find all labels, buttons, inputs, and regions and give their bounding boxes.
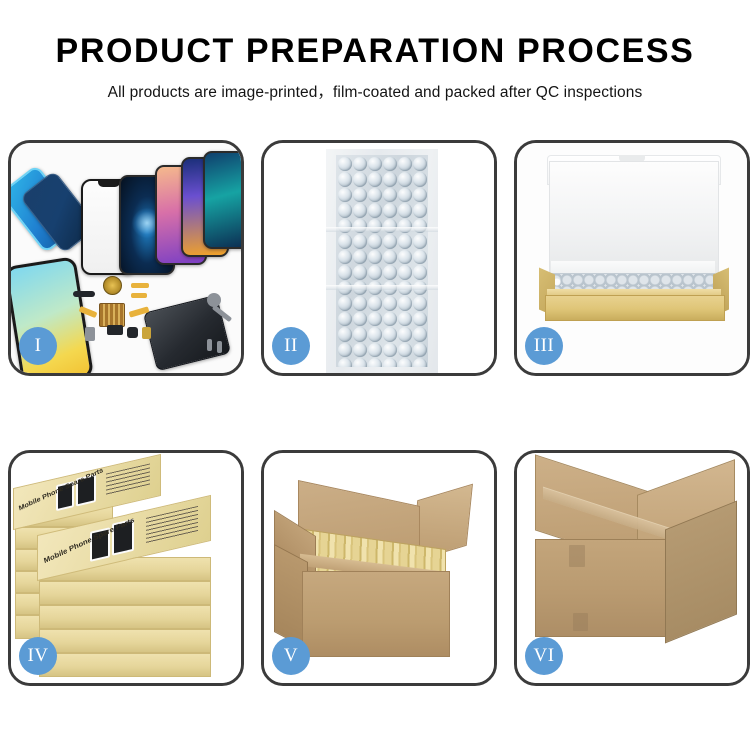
bubble-cell: [383, 157, 397, 172]
bubble-cell: [353, 203, 367, 218]
bubble-cell: [368, 296, 382, 311]
step-panel-6[interactable]: VI: [514, 450, 750, 686]
part-screw-b: [217, 341, 222, 353]
bubble-cell: [368, 157, 382, 172]
bubble-cell: [338, 203, 352, 218]
bubble-cell: [338, 250, 352, 265]
carton-flap-tab-lower: [573, 613, 588, 631]
part-flex-cable-b: [131, 293, 147, 298]
step-panel-3[interactable]: III: [514, 140, 750, 376]
bubble-cell: [413, 296, 427, 311]
bubble-cell: [353, 296, 367, 311]
page-title: PRODUCT PREPARATION PROCESS: [0, 34, 750, 70]
bubble-cell: [398, 203, 412, 218]
lid-spec-lines-a: [106, 463, 150, 495]
bubble-cell: [368, 343, 382, 358]
bubble-cell: [338, 234, 352, 249]
bubble-cell: [383, 296, 397, 311]
bubble-cell: [413, 358, 427, 367]
bubble-cell: [398, 234, 412, 249]
bubble-cell: [413, 312, 427, 327]
bubble-cell: [398, 188, 412, 203]
part-flex-cable-a: [131, 283, 149, 288]
carton-flap-tab-upper: [569, 545, 585, 567]
bubble-cell: [383, 203, 397, 218]
bubble-cell: [398, 172, 412, 187]
bubble-cell: [383, 312, 397, 327]
bubble-cell: [383, 188, 397, 203]
bubble-cell: [338, 172, 352, 187]
stacked-box-front-4: [39, 629, 211, 653]
bubble-cell: [398, 265, 412, 280]
phone-display-teal: [203, 151, 241, 249]
bubble-cell: [383, 234, 397, 249]
bubble-cell: [353, 265, 367, 280]
bubble-cell: [383, 265, 397, 280]
bubble-cell: [383, 172, 397, 187]
page-header: PRODUCT PREPARATION PROCESS All products…: [0, 0, 750, 102]
bubble-cell: [338, 188, 352, 203]
step-badge-4: IV: [19, 637, 57, 675]
bubble-cell: [368, 265, 382, 280]
bubble-cell: [338, 327, 352, 342]
stacked-box-front-3: [39, 605, 211, 629]
bubble-cell: [353, 250, 367, 265]
box-back-wall: [549, 161, 719, 275]
bubble-cell: [398, 327, 412, 342]
bubble-cell: [383, 327, 397, 342]
bubble-cell: [338, 296, 352, 311]
bubble-cell: [353, 343, 367, 358]
step-badge-6: VI: [525, 637, 563, 675]
bubble-grid: [336, 155, 428, 367]
bubble-cell: [338, 358, 352, 367]
bubble-cell: [368, 327, 382, 342]
carton-front-face: [302, 571, 450, 657]
part-chip-array: [99, 303, 125, 327]
part-taptic-engine: [127, 327, 138, 338]
bubble-cell: [398, 312, 412, 327]
bubble-cell: [353, 172, 367, 187]
bubble-cell: [383, 358, 397, 367]
bubble-cell: [353, 358, 367, 367]
bubble-cell: [353, 312, 367, 327]
bubble-wrap-pouch: [326, 149, 438, 373]
bubble-cell: [413, 234, 427, 249]
bubble-cell: [413, 343, 427, 358]
bubble-cell: [398, 296, 412, 311]
box-front-face: [545, 295, 725, 321]
bubble-cell: [413, 265, 427, 280]
step-panel-5[interactable]: V: [261, 450, 497, 686]
step-badge-1: I: [19, 327, 57, 365]
bubble-cell: [398, 343, 412, 358]
step-badge-2: II: [272, 327, 310, 365]
bubble-cell: [398, 358, 412, 367]
part-screw-a: [207, 339, 212, 351]
bubble-cell: [338, 343, 352, 358]
step-panel-1[interactable]: I: [8, 140, 244, 376]
bubble-cell: [353, 234, 367, 249]
bubble-cell: [368, 203, 382, 218]
step-badge-3: III: [525, 327, 563, 365]
bubble-cell: [413, 250, 427, 265]
part-vibration-motor: [103, 276, 122, 295]
bubble-cell: [413, 172, 427, 187]
bubble-cell: [413, 203, 427, 218]
part-camera-module: [107, 325, 123, 335]
stacked-box-front-5: [39, 653, 211, 677]
bubble-cell: [368, 250, 382, 265]
bubble-cell: [368, 172, 382, 187]
process-steps-grid: I II III: [8, 140, 742, 686]
bubble-cell: [353, 157, 367, 172]
part-sim-tray: [142, 327, 151, 339]
part-speaker: [73, 291, 95, 297]
bubble-cell: [368, 188, 382, 203]
bubble-cell: [353, 327, 367, 342]
page-subtitle: All products are image-printed，film-coat…: [0, 80, 750, 102]
bubble-cell: [368, 358, 382, 367]
bubble-cell: [338, 312, 352, 327]
bubble-cell: [338, 265, 352, 280]
bubble-cell: [353, 188, 367, 203]
bubble-cell: [383, 343, 397, 358]
step-badge-5: V: [272, 637, 310, 675]
part-battery-connector: [85, 327, 95, 341]
bubble-cell: [368, 312, 382, 327]
bubble-cell: [338, 157, 352, 172]
bubble-cell: [383, 250, 397, 265]
bubble-cell: [413, 157, 427, 172]
lid-spec-lines-b: [146, 506, 198, 544]
step-panel-4[interactable]: Mobile Phone Spare Parts Mobile Phone Sp…: [8, 450, 244, 686]
bubble-cell: [398, 250, 412, 265]
step-panel-2[interactable]: II: [261, 140, 497, 376]
stacked-box-front-2: [39, 581, 211, 605]
bubble-cell: [413, 188, 427, 203]
bubble-cell: [398, 157, 412, 172]
bubble-cell: [413, 327, 427, 342]
sealed-carton-front-face: [535, 539, 669, 637]
bubble-cell: [368, 234, 382, 249]
